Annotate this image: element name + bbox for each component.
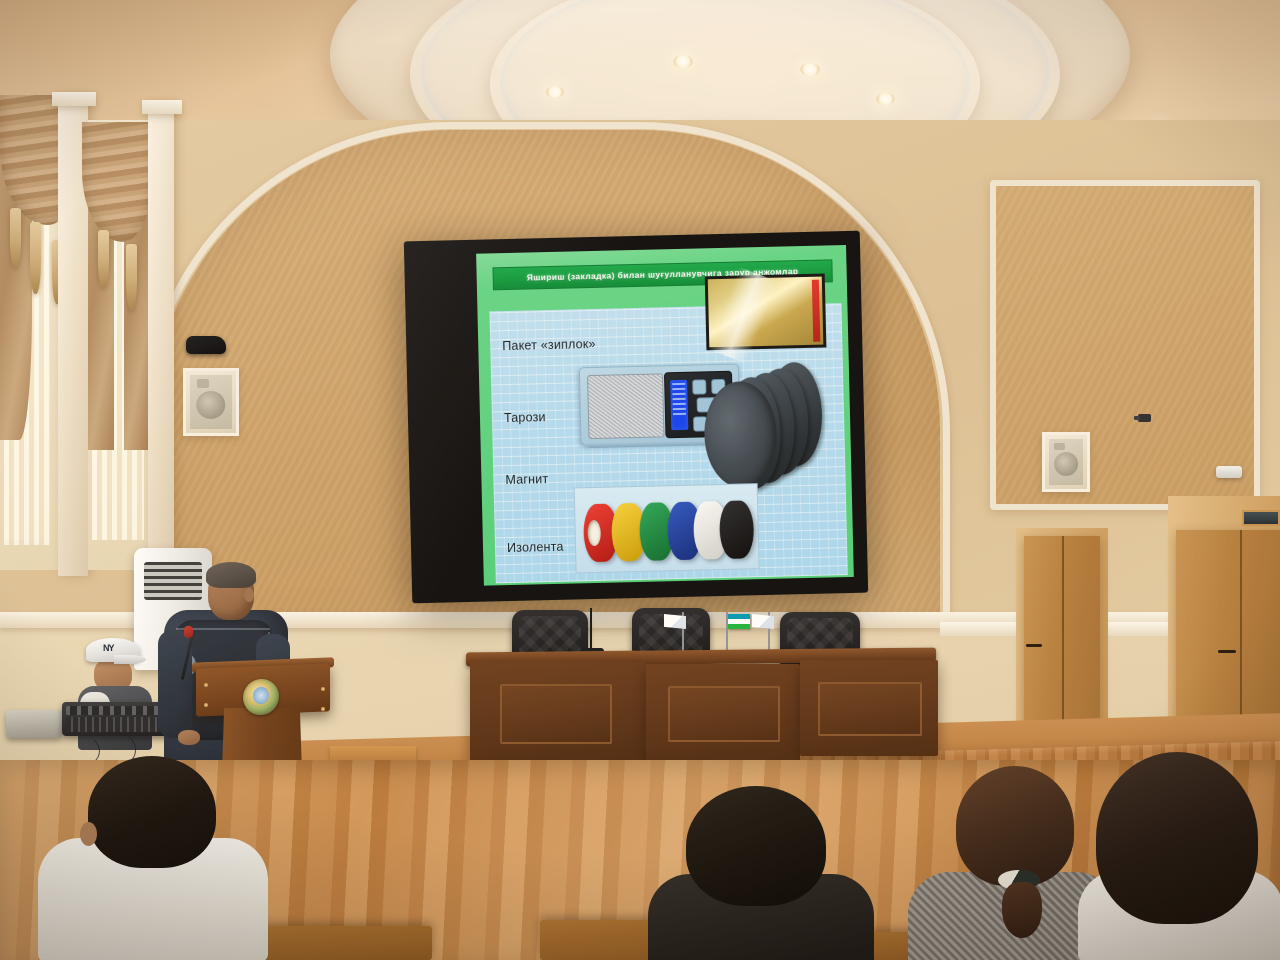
slide-label-scales: Тарози	[504, 410, 546, 425]
emergency-light-box	[1216, 466, 1242, 478]
downlight-icon	[546, 86, 564, 98]
zip-lock-bag-image	[705, 274, 827, 351]
downlight-icon	[876, 93, 895, 105]
institutional-flag	[664, 614, 686, 629]
cap-logo-text: NY	[103, 643, 114, 653]
scale-weighing-plate	[587, 373, 664, 439]
officer-shoe-left	[186, 336, 226, 354]
table-front-panel	[668, 686, 780, 742]
officer-arm-left	[158, 630, 192, 738]
pilaster-left-inner	[148, 104, 174, 574]
conference-hall-scene: Яшириш (закладка) билан шуғулланувчига з…	[0, 0, 1280, 960]
curtain-tassel	[30, 222, 41, 294]
curtain-tassel	[10, 208, 21, 268]
right-wall-panel	[990, 180, 1260, 510]
pilaster-capital	[142, 100, 182, 114]
table-front-panel	[500, 684, 612, 744]
projector-unit	[6, 710, 62, 738]
cap-brim	[114, 655, 146, 664]
speaker-grille	[1049, 439, 1083, 485]
security-camera-icon	[1138, 414, 1151, 422]
podium-stud	[204, 683, 208, 687]
speaker-tweeter-icon	[197, 379, 210, 388]
institutional-flag	[752, 614, 774, 629]
downlight-icon	[673, 55, 693, 68]
curtain-tassel	[98, 230, 109, 288]
student-hair	[956, 766, 1074, 886]
scale-lcd-display	[670, 380, 688, 430]
speaker-grille	[190, 375, 232, 429]
speaker-woofer-icon	[1054, 452, 1078, 476]
podium-stud	[204, 703, 208, 707]
student-white-top	[1082, 752, 1280, 960]
uzbekistan-flag	[728, 614, 750, 629]
officer-hair	[206, 562, 256, 588]
officer-hand-left	[178, 730, 200, 745]
presentation-slide: Яшириш (закладка) билан шуғулланувчига з…	[476, 245, 854, 586]
slide-label-magnet: Магнит	[505, 472, 548, 487]
officer-ear	[244, 588, 254, 602]
gooseneck-microphone	[590, 608, 592, 650]
door-transom-panel	[1242, 510, 1280, 526]
curtain-tassel	[126, 244, 137, 310]
student-white-shirt	[38, 756, 268, 960]
student-hair	[686, 786, 826, 906]
mixer-knob-row[interactable]	[66, 706, 168, 715]
slide-label-tape: Изолента	[507, 540, 564, 555]
door-handle-icon[interactable]	[1026, 644, 1042, 647]
audience-desk	[252, 926, 432, 960]
slide-label-zip-bag: Пакет «зиплок»	[502, 337, 596, 353]
student-ponytail	[1002, 882, 1042, 938]
handheld-microphone-head	[184, 626, 193, 638]
electrical-tape-image	[574, 483, 760, 573]
table-front-panel	[818, 682, 922, 736]
downlight-icon	[800, 63, 820, 76]
student-dark-jacket	[648, 786, 874, 960]
speaker-right	[1042, 432, 1090, 492]
pilaster-capital	[52, 92, 96, 106]
bag-seal-strip	[812, 280, 820, 342]
speaker-woofer-icon	[196, 391, 225, 419]
podium-stud	[321, 687, 325, 691]
podium-stud	[321, 707, 325, 711]
student-ear	[80, 822, 97, 846]
speaker-left	[183, 368, 239, 436]
door-handle-icon[interactable]	[1218, 650, 1236, 653]
speaker-tweeter-icon	[1054, 443, 1064, 450]
student-hair	[88, 756, 216, 868]
tape-roll-black	[719, 500, 754, 559]
projection-screen[interactable]: Яшириш (закладка) билан шуғулланувчига з…	[404, 231, 868, 604]
student-hair	[1096, 752, 1258, 924]
